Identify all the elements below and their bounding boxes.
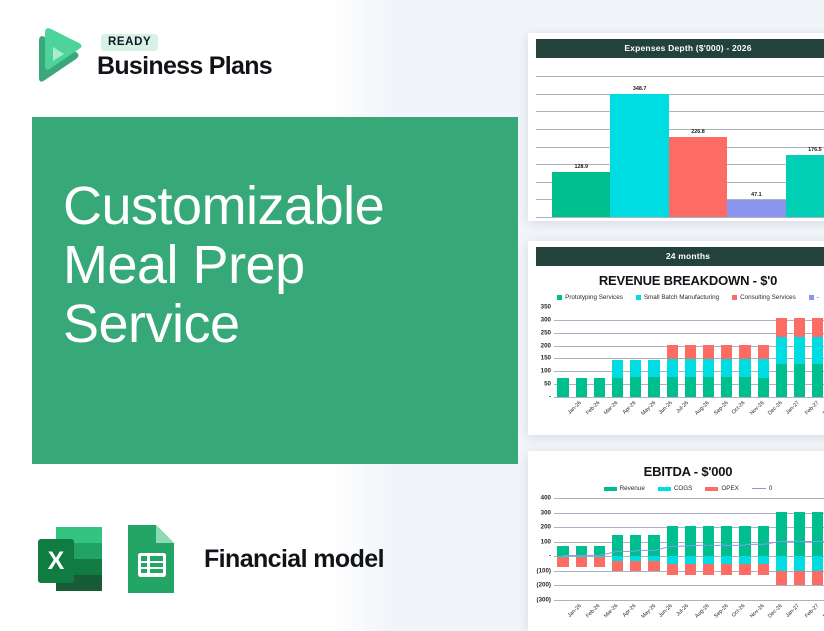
gridline [554, 397, 824, 398]
stack-segment [812, 512, 823, 557]
legend-label: COGS [674, 485, 693, 492]
y-axis-tick-label: - [549, 394, 551, 401]
stack-segment [630, 360, 641, 378]
trend-line-segment [709, 545, 727, 547]
bar-column: 348.7 [610, 76, 668, 217]
x-axis-tick-label: Jul-26 [676, 603, 691, 618]
y-axis-tick-label: 250 [541, 329, 551, 336]
stack-segment [648, 561, 659, 571]
x-axis-tick-label: Jul-26 [676, 400, 691, 415]
x-axis-tick-label: Nov-26 [749, 603, 766, 620]
stack-segment [612, 378, 623, 397]
stack-segment [739, 359, 750, 377]
stack-segment [794, 318, 805, 337]
google-sheets-icon [120, 521, 182, 597]
legend-label: OPEX [721, 485, 739, 492]
x-axis-tick-label: Jan-27 [785, 400, 801, 416]
bar [727, 200, 785, 217]
bar-column: 226.8 [669, 76, 727, 217]
x-axis-tick-label: Oct-26 [731, 400, 747, 416]
plot-area-ebitda: 400300200100-(100)(200)(300)Jan-26Feb-26… [528, 494, 824, 626]
y-axis-tick-label: 50 [544, 381, 551, 388]
x-axis-tick-label: Jun-26 [658, 400, 674, 416]
stack-segment [721, 556, 732, 564]
gridline [536, 217, 824, 218]
stack-segment [557, 557, 568, 567]
legend-item: 0 [752, 485, 773, 492]
x-axis-tick-label: Dec-26 [767, 400, 784, 417]
trend-line-segment [800, 541, 818, 542]
gridline [554, 585, 824, 586]
trend-line-segment [563, 555, 581, 556]
legend-item: COGS [658, 485, 693, 492]
y-axis-tick-label: 100 [541, 368, 551, 375]
brand-lockup: READY Business Plans [32, 28, 272, 84]
stack-segment [703, 359, 714, 377]
stack-segment [794, 364, 805, 397]
x-axis-tick-label: Feb-26 [585, 400, 601, 416]
stack-segment [703, 345, 714, 360]
play-triangle-logo-icon [32, 28, 84, 84]
y-axis-tick-label: (100) [537, 567, 551, 574]
stack-segment [594, 378, 605, 397]
stack-segment [667, 359, 678, 377]
legend-item: Small Batch Manufacturing [636, 294, 719, 301]
stack-segment [667, 564, 678, 575]
stack-segment [667, 377, 678, 397]
trend-line-segment [672, 545, 690, 547]
legend-item: Consulting Services [732, 294, 796, 301]
stack-segment [721, 359, 732, 377]
bar [786, 155, 824, 217]
y-axis-tick-label: - [549, 553, 551, 560]
y-axis-tick-label: 200 [541, 524, 551, 531]
stack-segment [703, 564, 714, 575]
brand-text-block: READY Business Plans [97, 34, 272, 79]
bar-value-label: 47.1 [751, 192, 762, 198]
stack-segment [776, 512, 787, 557]
x-axis-tick-label: May-26 [640, 400, 657, 417]
poster-canvas: READY Business Plans Customizable Meal P… [0, 0, 824, 631]
legend-label: Revenue [620, 485, 645, 492]
legend-label: - [817, 294, 819, 301]
stack-segment [612, 561, 623, 571]
y-axis-tick-label: (300) [537, 597, 551, 604]
stack-segment [776, 556, 787, 571]
stack-segment [794, 512, 805, 557]
legend-label: Small Batch Manufacturing [644, 294, 719, 301]
stack-segment [630, 561, 641, 571]
stack-segment [739, 564, 750, 575]
stack-segment [557, 378, 568, 397]
stack-segment [685, 526, 696, 556]
y-axis-tick-label: 150 [541, 355, 551, 362]
x-axis-tick-label: Jun-26 [658, 603, 674, 619]
gridline [554, 600, 824, 601]
chart-legend-revenue: Prototyping ServicesSmall Batch Manufact… [528, 290, 824, 303]
ready-badge: READY [101, 34, 158, 51]
chart-legend-ebitda: RevenueCOGSOPEX0 [528, 481, 824, 494]
stack-segment [667, 345, 678, 360]
stack-segment [812, 364, 823, 397]
chart-card-revenue: 24 months REVENUE BREAKDOWN - $'0 Protot… [528, 241, 824, 435]
y-axis-tick-label: (200) [537, 582, 551, 589]
chart-title-revenue: REVENUE BREAKDOWN - $'0 [528, 266, 824, 290]
stack-segment [794, 556, 805, 571]
stack-segment [685, 556, 696, 564]
y-axis-labels: 400300200100-(100)(200)(300) [528, 494, 554, 626]
stack-segment [812, 571, 823, 585]
financial-model-label: Financial model [204, 545, 384, 574]
hero-panel: Customizable Meal Prep Service [32, 117, 518, 464]
stack-segment [648, 377, 659, 397]
x-axis-tick-label: Jan-27 [785, 603, 801, 619]
stack-segment [630, 377, 641, 397]
legend-color-swatch [636, 295, 641, 300]
stack-segment [739, 345, 750, 360]
stack-segment [776, 364, 787, 397]
plot-area-expenses: 128.9348.7226.847.1176.5 [528, 58, 824, 221]
stack-segment [721, 526, 732, 556]
bar-value-label: 348.7 [633, 86, 647, 92]
legend-color-swatch [557, 295, 562, 300]
x-axis-tick-label: Sep-26 [713, 603, 730, 620]
stack-segment [739, 526, 750, 556]
legend-color-swatch [809, 295, 814, 300]
stack-segment [812, 318, 823, 337]
plot-area-revenue: 35030025020015010050-Jan-26Feb-26Mar-26A… [528, 303, 824, 421]
y-axis-tick-label: 100 [541, 538, 551, 545]
x-axis-tick-label: Feb-27 [804, 400, 820, 416]
stack-segment [721, 564, 732, 575]
x-axis-tick-label: Aug-26 [694, 400, 711, 417]
stack-segment [776, 571, 787, 585]
legend-item: OPEX [705, 485, 739, 492]
page-title: Customizable Meal Prep Service [63, 177, 493, 354]
y-axis-tick-label: 400 [541, 495, 551, 502]
stack-segment [721, 377, 732, 397]
stack-segment [758, 564, 769, 575]
stack-segment [576, 557, 587, 567]
stack-segment [758, 556, 769, 564]
trend-line-segment [618, 550, 636, 552]
y-axis-labels: 35030025020015010050- [528, 303, 554, 421]
stack-segment [667, 526, 678, 556]
stack-segment [794, 337, 805, 364]
trend-line-segment [818, 541, 824, 542]
stack-segment [758, 345, 769, 360]
stack-segment [594, 557, 605, 567]
stack-segment [648, 360, 659, 378]
chart-title-ebitda: EBITDA - $'000 [528, 451, 824, 481]
stack-segment [721, 345, 732, 360]
x-axis-tick-label: Jan-26 [567, 400, 583, 416]
x-axis-tick-label: Mar-26 [603, 603, 619, 619]
bar [610, 94, 668, 217]
bar-value-label: 226.8 [691, 129, 705, 135]
stack-segment [739, 556, 750, 564]
stack-segment [794, 571, 805, 585]
stack-segment [703, 526, 714, 556]
stack-segment [812, 337, 823, 364]
stack-segment [758, 359, 769, 377]
stack-segment [612, 360, 623, 378]
x-axis-tick-label: Feb-27 [804, 603, 820, 619]
y-axis-tick-label: 350 [541, 304, 551, 311]
x-axis-tick-label: Feb-26 [585, 603, 601, 619]
legend-label: Prototyping Services [565, 294, 623, 301]
trend-line-segment [781, 541, 799, 543]
stack-segment [685, 345, 696, 360]
chart-band-revenue: 24 months [536, 247, 824, 266]
svg-text:X: X [48, 547, 65, 575]
trend-line-segment [727, 544, 745, 546]
stack-segment [685, 359, 696, 377]
stack-segment [667, 556, 678, 564]
stack-segment [739, 377, 750, 397]
gridline [554, 498, 824, 499]
stack-segment [576, 378, 587, 397]
legend-item: Prototyping Services [557, 294, 623, 301]
bar-group-expenses: 128.9348.7226.847.1176.5 [552, 76, 824, 217]
legend-label: 0 [769, 485, 773, 492]
bar-value-label: 128.9 [574, 164, 588, 170]
legend-line-marker [752, 488, 766, 489]
bar-column: 47.1 [727, 76, 785, 217]
stack-segment [648, 535, 659, 556]
stack-segment [703, 556, 714, 564]
x-axis-tick-label: Apr-26 [621, 603, 637, 619]
x-axis-tick-label: May-26 [640, 603, 657, 620]
x-axis-tick-label: Sep-26 [713, 400, 730, 417]
microsoft-excel-icon: X [34, 521, 106, 597]
x-axis-tick-label: Mar-26 [603, 400, 619, 416]
stack-segment [758, 526, 769, 556]
legend-label: Consulting Services [740, 294, 796, 301]
stack-segment [685, 564, 696, 575]
legend-color-swatch [658, 487, 671, 491]
legend-item: - [809, 294, 819, 301]
y-axis-tick-label: 300 [541, 509, 551, 516]
chart-card-expenses: Expenses Depth ($'000) - 2026 128.9348.7… [528, 33, 824, 221]
y-axis-tick-label: 200 [541, 342, 551, 349]
legend-color-swatch [604, 487, 617, 491]
chart-band-expenses: Expenses Depth ($'000) - 2026 [536, 39, 824, 58]
stack-segment [630, 535, 641, 556]
y-axis-tick-label: 300 [541, 316, 551, 323]
legend-color-swatch [705, 487, 718, 491]
stack-segment [812, 556, 823, 571]
legend-item: Revenue [604, 485, 645, 492]
bar-column: 176.5 [786, 76, 824, 217]
stack-segment [776, 318, 787, 337]
bar [669, 137, 727, 217]
x-axis-tick-label: Dec-26 [767, 603, 784, 620]
legend-color-swatch [732, 295, 737, 300]
stack-segment [612, 535, 623, 556]
bar-column: 128.9 [552, 76, 610, 217]
stack-segment [758, 378, 769, 397]
x-axis-tick-label: Nov-26 [749, 400, 766, 417]
x-axis-tick-label: Jan-26 [567, 603, 583, 619]
brand-name: Business Plans [97, 54, 272, 79]
bar-value-label: 176.5 [808, 147, 822, 153]
stack-segment [685, 377, 696, 397]
formats-row: X Financial model [34, 521, 384, 597]
x-axis-tick-label: Aug-26 [694, 603, 711, 620]
x-axis-tick-label: Oct-26 [731, 603, 747, 619]
chart-card-ebitda: EBITDA - $'000 RevenueCOGSOPEX0 40030020… [528, 451, 824, 631]
stack-segment [703, 377, 714, 397]
bar [552, 172, 610, 217]
x-axis-tick-label: Apr-26 [621, 400, 637, 416]
stack-segment [776, 337, 787, 364]
